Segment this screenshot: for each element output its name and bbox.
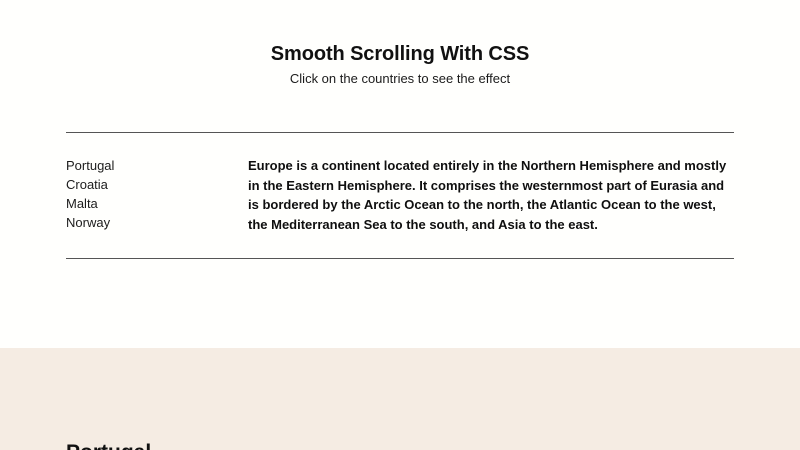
country-section-heading: Portugal xyxy=(66,440,151,450)
country-list: Portugal Croatia Malta Norway xyxy=(66,156,248,232)
country-nav: Portugal Croatia Malta Norway xyxy=(66,156,248,232)
divider-top xyxy=(66,132,734,133)
list-item: Croatia xyxy=(66,175,248,194)
page-subtitle: Click on the countries to see the effect xyxy=(0,66,800,87)
country-section-portugal: Portugal xyxy=(0,348,800,450)
description-column: Europe is a continent located entirely i… xyxy=(248,156,734,234)
intro-section: Smooth Scrolling With CSS Click on the c… xyxy=(0,0,800,87)
list-item: Norway xyxy=(66,213,248,232)
page-title: Smooth Scrolling With CSS xyxy=(0,0,800,66)
nav-link-malta[interactable]: Malta xyxy=(66,194,248,213)
page-root: Smooth Scrolling With CSS Click on the c… xyxy=(0,0,800,450)
list-item: Malta xyxy=(66,194,248,213)
nav-link-portugal[interactable]: Portugal xyxy=(66,156,248,175)
content-band: Portugal Croatia Malta Norway Europe is … xyxy=(66,156,734,234)
nav-link-croatia[interactable]: Croatia xyxy=(66,175,248,194)
divider-bottom xyxy=(66,258,734,259)
nav-link-norway[interactable]: Norway xyxy=(66,213,248,232)
europe-description: Europe is a continent located entirely i… xyxy=(248,156,734,234)
list-item: Portugal xyxy=(66,156,248,175)
